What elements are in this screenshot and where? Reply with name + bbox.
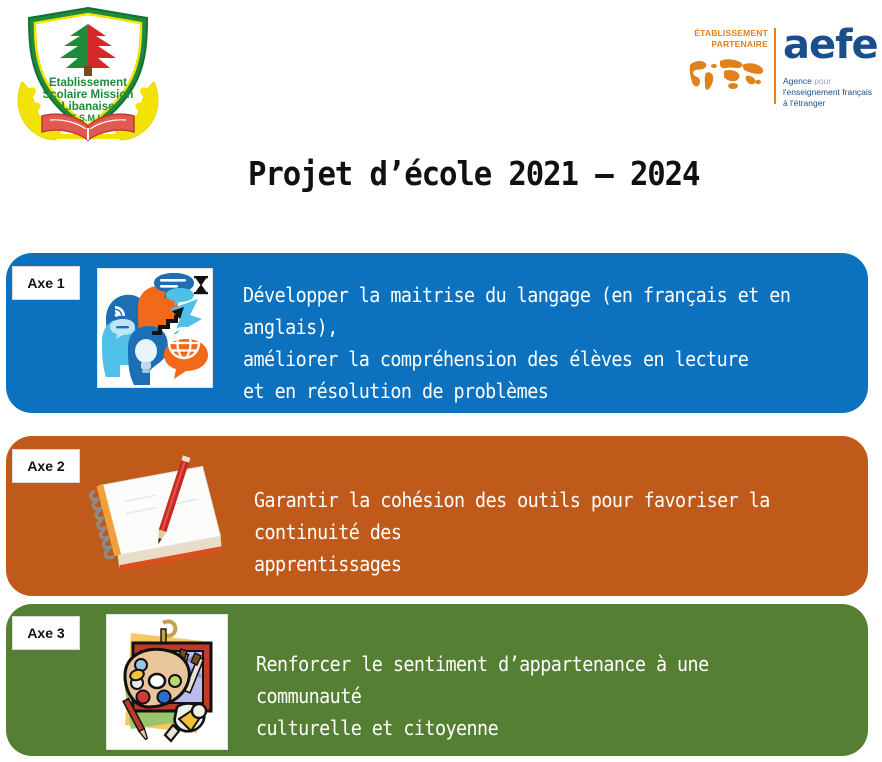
- svg-text:Etablissement: Etablissement: [49, 77, 127, 89]
- axis-text-1: Développer la maitrise du langage (en fr…: [243, 279, 818, 407]
- world-map-icon: [686, 53, 768, 98]
- page-title: Projet d’école 2021 – 2024: [248, 154, 699, 193]
- axis-card-1: Axe 1: [6, 253, 868, 413]
- svg-text:Scolaire Mission: Scolaire Mission: [43, 89, 134, 101]
- axis-badge-2: Axe 2: [12, 449, 80, 483]
- axis-text-2: Garantir la cohésion des outils pour fav…: [254, 484, 819, 580]
- axis-card-2: Axe 2: [6, 436, 868, 596]
- aefe-tagline: Agence pour l'enseignement français à l'…: [783, 65, 878, 120]
- aefe-partner-label: ÉTABLISSEMENT PARTENAIRE: [694, 28, 768, 50]
- spiral-notebook-pencil-icon: [84, 448, 236, 580]
- communication-heads-speech-bubbles-icon: [97, 268, 213, 388]
- aefe-partner-block: ÉTABLISSEMENT PARTENAIRE: [688, 28, 774, 104]
- page-header: Etablissement Scolaire Mission Libanaise…: [0, 0, 882, 150]
- esml-crest-logo: Etablissement Scolaire Mission Libanaise…: [8, 4, 168, 149]
- axis-badge-3: Axe 3: [12, 616, 80, 650]
- aefe-wordmark-block: aefe Agence pour l'enseignement français…: [783, 28, 878, 104]
- aefe-tagline-rest: l'enseignement français à l'étranger: [783, 87, 878, 109]
- axis-badge-1: Axe 1: [12, 266, 80, 300]
- aefe-tagline-bold: Agence: [783, 76, 812, 86]
- svg-text:Libanaise: Libanaise: [61, 101, 114, 113]
- aefe-tagline-light: pour: [812, 76, 831, 86]
- aefe-divider: [774, 28, 776, 104]
- aefe-wordmark: aefe: [783, 28, 878, 62]
- paint-palette-brushes-easel-icon: [106, 614, 228, 750]
- axis-text-3: Renforcer le sentiment d’appartenance à …: [256, 648, 819, 744]
- aefe-logo: ÉTABLISSEMENT PARTENAIRE: [688, 28, 878, 104]
- axis-card-3: Axe 3: [6, 604, 868, 756]
